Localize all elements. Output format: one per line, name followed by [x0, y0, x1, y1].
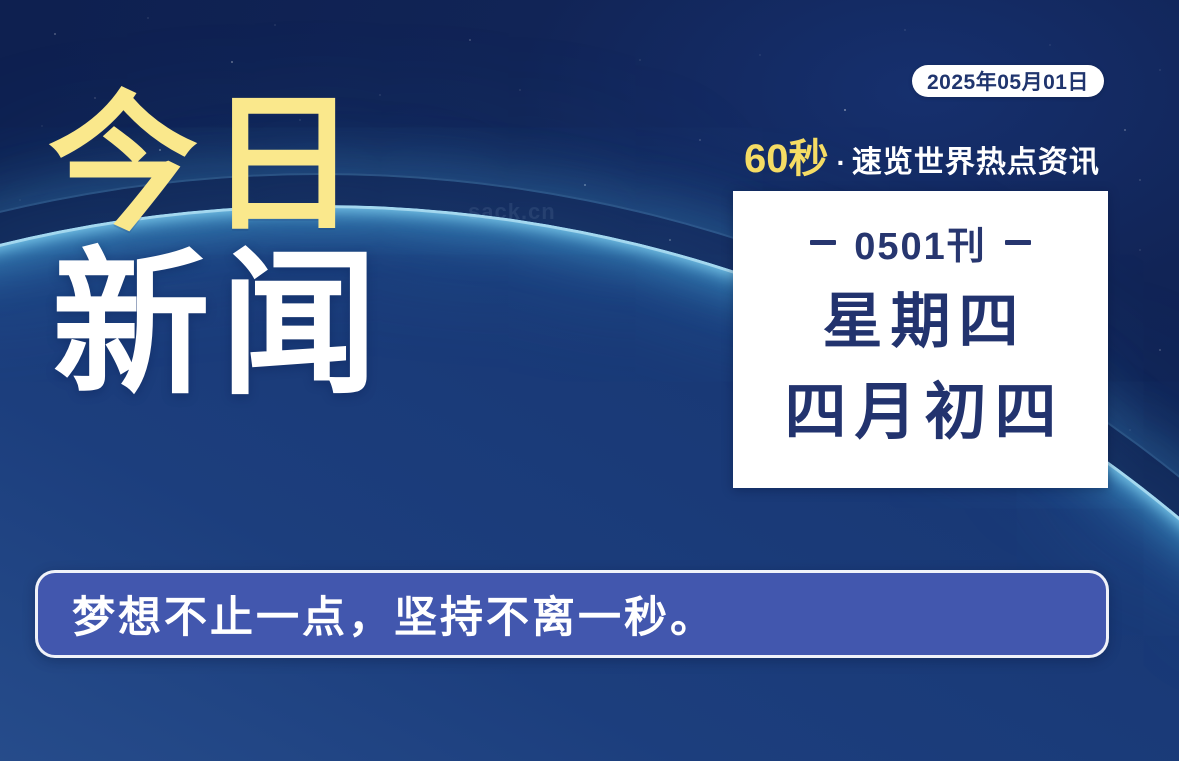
lunar-date-label: 四月初四 — [776, 382, 1064, 444]
quote-text: 梦想不止一点，坚持不离一秒。 — [72, 583, 716, 645]
issue-dash-left-icon — [810, 240, 836, 245]
info-card: 0501刊 星期四 四月初四 — [733, 191, 1108, 488]
title-line-today: 今日 — [48, 92, 468, 236]
tagline-phrase: 速览世界热点资讯 — [852, 148, 1100, 178]
tagline: 60秒 · 速览世界热点资讯 — [744, 139, 1100, 179]
tagline-separator-dot: · — [837, 149, 846, 177]
quote-bar: 梦想不止一点，坚持不离一秒。 — [35, 570, 1109, 658]
title-line-news: 新闻 — [52, 250, 468, 402]
tagline-seconds: 60秒 — [744, 139, 829, 179]
weekday-label: 星期四 — [815, 292, 1027, 352]
watermark-text: sack.cn — [468, 199, 556, 225]
issue-label: 0501刊 — [854, 215, 987, 270]
poster-title: 今日 新闻 — [48, 92, 468, 402]
date-badge: 2025年05月01日 — [912, 65, 1104, 97]
issue-dash-right-icon — [1005, 240, 1031, 245]
issue-row: 0501刊 — [810, 215, 1031, 270]
news-poster: sack.cn 今日 新闻 2025年05月01日 60秒 · 速览世界热点资讯… — [0, 0, 1179, 761]
